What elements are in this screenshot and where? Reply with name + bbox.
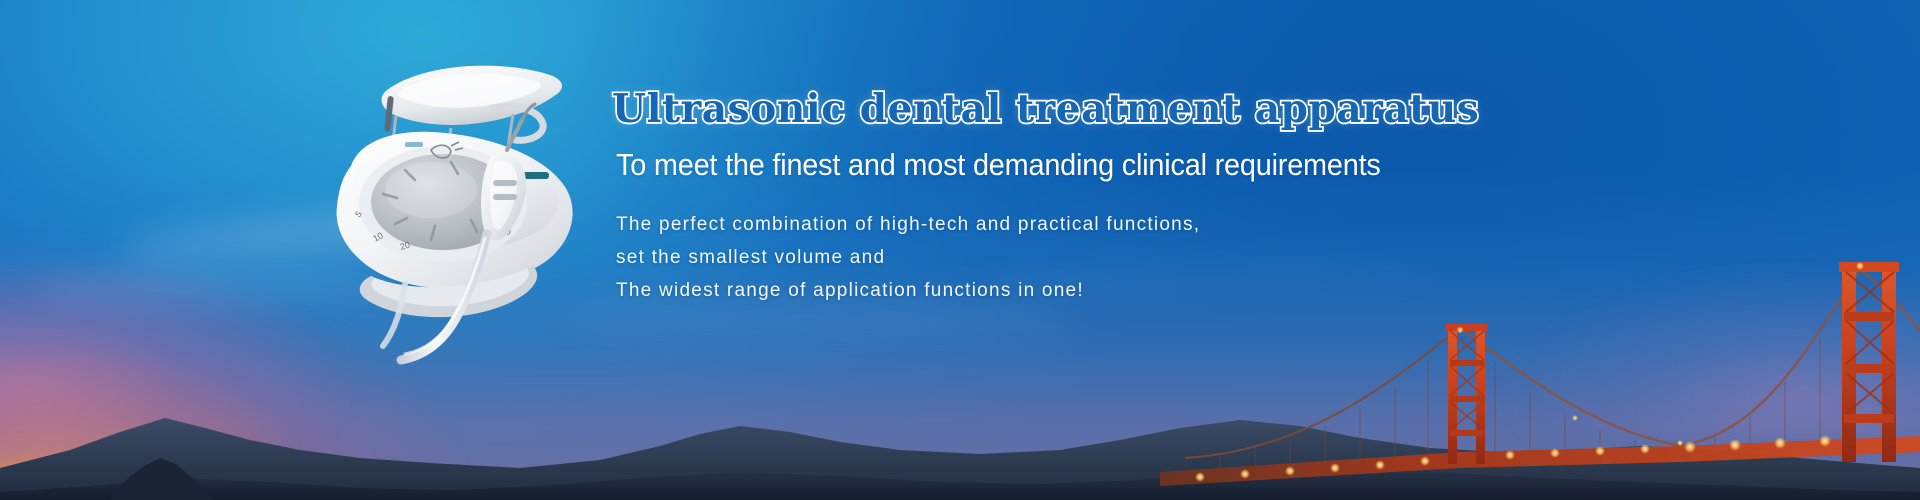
bridge-tower-near xyxy=(1839,262,1899,462)
description-line: The widest range of application function… xyxy=(616,274,1762,307)
product-image-ultrasonic-scaler: 20 10 5 0 xyxy=(255,38,615,368)
banner-description: The perfect combination of high-tech and… xyxy=(616,208,1762,307)
description-line: set the smallest volume and xyxy=(616,241,1762,274)
description-line: The perfect combination of high-tech and… xyxy=(616,208,1762,241)
banner-copy-block: Ultrasonic dental treatment apparatus To… xyxy=(612,86,1762,307)
bridge-tower-far xyxy=(1446,324,1487,464)
promo-banner: 20 10 5 0 xyxy=(0,0,1920,500)
page-title: Ultrasonic dental treatment apparatus xyxy=(612,86,1762,132)
device-indicator-strip xyxy=(523,172,549,179)
banner-subtitle: To meet the finest and most demanding cl… xyxy=(616,146,1682,184)
